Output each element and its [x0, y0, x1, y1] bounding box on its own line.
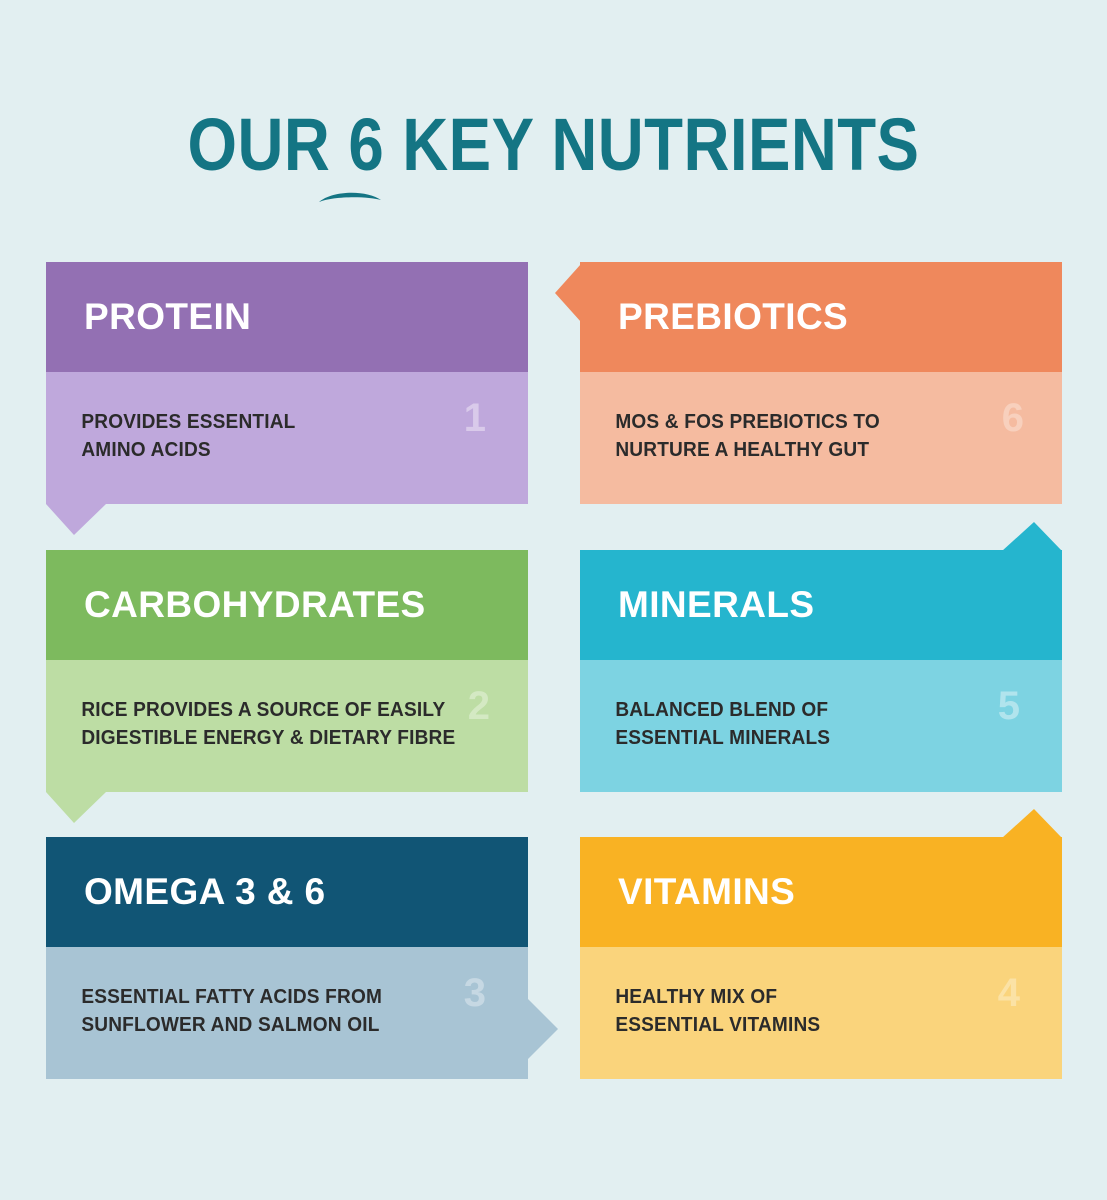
- card-tail-left-icon: [555, 264, 581, 322]
- card-description: PROVIDES ESSENTIAL AMINO ACIDS: [46, 372, 494, 463]
- card-number-watermark: 5: [998, 686, 1020, 726]
- card-title: VITAMINS: [580, 871, 795, 913]
- card-number-watermark: 4: [998, 973, 1020, 1013]
- card-title: PROTEIN: [46, 296, 251, 338]
- card-title: CARBOHYDRATES: [46, 584, 426, 626]
- card-description: HEALTHY MIX OF ESSENTIAL VITAMINS: [580, 947, 1028, 1038]
- card-number-watermark: 2: [468, 686, 490, 726]
- card-tail-up-icon: [1002, 522, 1062, 551]
- card-number-watermark: 3: [464, 973, 486, 1013]
- card-tail-down-icon: [46, 792, 106, 823]
- card-tail-right-icon: [528, 999, 558, 1059]
- card-body-carbohydrates: RICE PROVIDES A SOURCE OF EASILY DIGESTI…: [46, 660, 528, 792]
- card-description: BALANCED BLEND OF ESSENTIAL MINERALS: [580, 660, 1028, 751]
- card-header-minerals: MINERALS: [580, 550, 1062, 660]
- card-header-omega: OMEGA 3 & 6: [46, 837, 528, 947]
- card-body-minerals: BALANCED BLEND OF ESSENTIAL MINERALS 5: [580, 660, 1062, 792]
- nutrient-card-protein[interactable]: PROTEIN PROVIDES ESSENTIAL AMINO ACIDS 1: [46, 262, 528, 504]
- nutrient-card-minerals[interactable]: MINERALS BALANCED BLEND OF ESSENTIAL MIN…: [580, 550, 1062, 792]
- card-title: OMEGA 3 & 6: [46, 871, 326, 913]
- nutrient-card-omega[interactable]: OMEGA 3 & 6 ESSENTIAL FATTY ACIDS FROM S…: [46, 837, 528, 1079]
- card-description: MOS & FOS PREBIOTICS TO NURTURE A HEALTH…: [580, 372, 1028, 463]
- card-body-vitamins: HEALTHY MIX OF ESSENTIAL VITAMINS 4: [580, 947, 1062, 1079]
- card-header-protein: PROTEIN: [46, 262, 528, 372]
- nutrient-cards-grid: PROTEIN PROVIDES ESSENTIAL AMINO ACIDS 1…: [0, 0, 1107, 1200]
- card-number-watermark: 6: [1002, 398, 1024, 438]
- nutrient-card-carbohydrates[interactable]: CARBOHYDRATES RICE PROVIDES A SOURCE OF …: [46, 550, 528, 792]
- card-number-watermark: 1: [464, 398, 486, 438]
- card-body-omega: ESSENTIAL FATTY ACIDS FROM SUNFLOWER AND…: [46, 947, 528, 1079]
- nutrient-card-vitamins[interactable]: VITAMINS HEALTHY MIX OF ESSENTIAL VITAMI…: [580, 837, 1062, 1079]
- card-header-vitamins: VITAMINS: [580, 837, 1062, 947]
- card-body-prebiotics: MOS & FOS PREBIOTICS TO NURTURE A HEALTH…: [580, 372, 1062, 504]
- card-title: MINERALS: [580, 584, 814, 626]
- card-body-protein: PROVIDES ESSENTIAL AMINO ACIDS 1: [46, 372, 528, 504]
- card-tail-down-icon: [46, 504, 106, 535]
- card-description: RICE PROVIDES A SOURCE OF EASILY DIGESTI…: [46, 660, 494, 751]
- card-header-carbohydrates: CARBOHYDRATES: [46, 550, 528, 660]
- card-title: PREBIOTICS: [580, 296, 848, 338]
- card-tail-up-icon: [1002, 809, 1062, 838]
- card-description: ESSENTIAL FATTY ACIDS FROM SUNFLOWER AND…: [46, 947, 494, 1038]
- card-header-prebiotics: PREBIOTICS: [580, 262, 1062, 372]
- nutrient-card-prebiotics[interactable]: PREBIOTICS MOS & FOS PREBIOTICS TO NURTU…: [580, 262, 1062, 504]
